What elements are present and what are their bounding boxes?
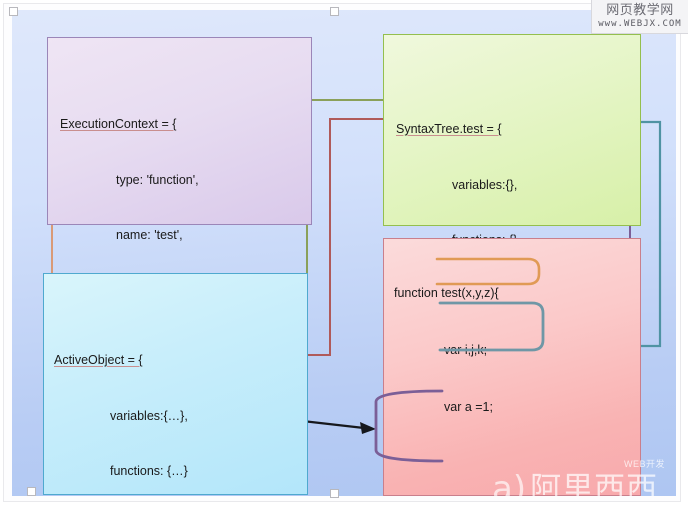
- watermark-top-en: www.WEBJX.COM: [592, 18, 688, 30]
- slide-canvas: ExecutionContext = { type: 'function', n…: [12, 10, 676, 496]
- watermark-bottom-sub: WEB开发: [624, 457, 665, 470]
- bracket-function-b: [440, 303, 543, 350]
- bracket-layer: [12, 10, 676, 496]
- slide-handle-top-left[interactable]: [9, 7, 18, 16]
- bracket-var-declarations: [437, 259, 539, 284]
- watermark-top: 网页教学网 www.WEBJX.COM: [591, 0, 688, 34]
- watermark-top-cn: 网页教学网: [592, 0, 688, 18]
- slide-handle-bottom-left[interactable]: [27, 487, 36, 496]
- slide-handle-bottom-center[interactable]: [330, 489, 339, 498]
- bracket-statements: [376, 391, 442, 461]
- slide-handle-top-center[interactable]: [330, 7, 339, 16]
- screenshot-root: ExecutionContext = { type: 'function', n…: [0, 0, 688, 509]
